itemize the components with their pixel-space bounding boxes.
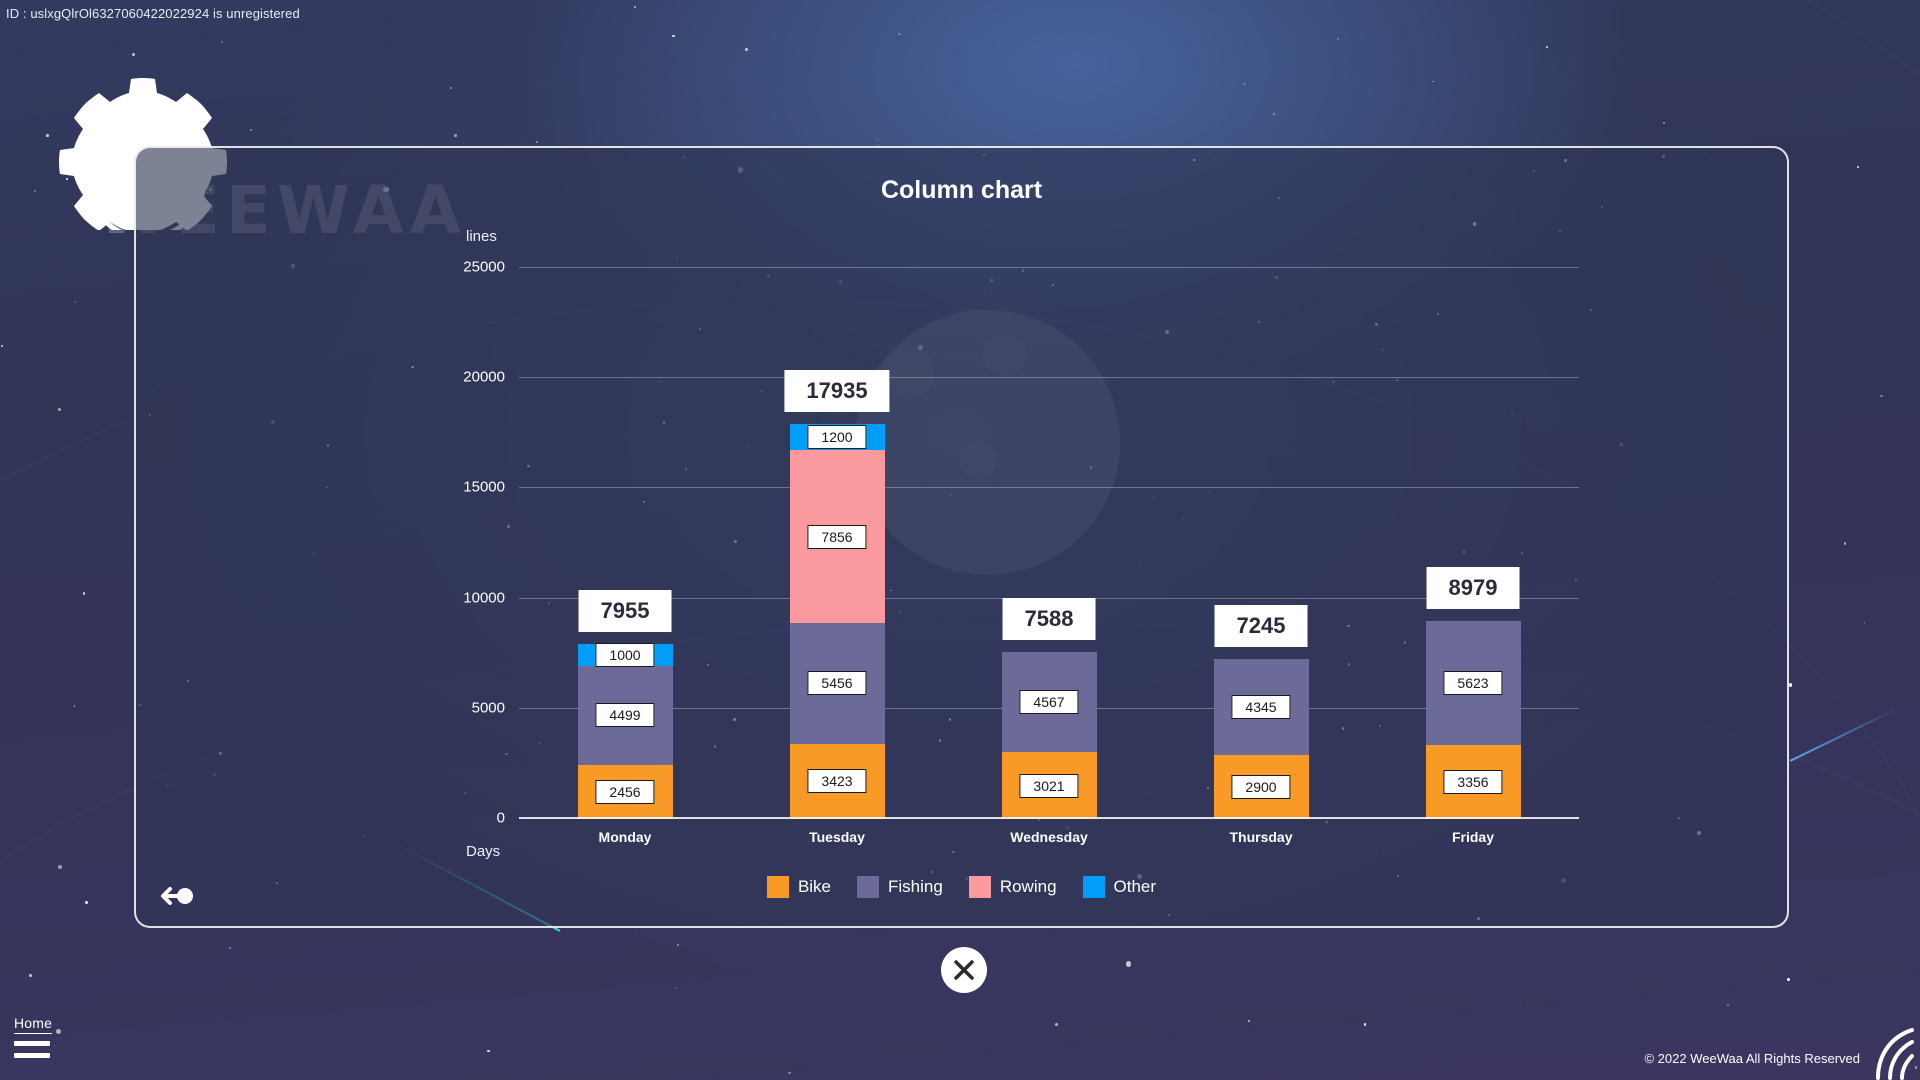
bar-segment-value: 2456 bbox=[595, 780, 654, 804]
chart-panel: Column chart lines Days 0500010000150002… bbox=[134, 146, 1789, 928]
close-icon bbox=[951, 957, 977, 983]
bar-segment-rowing[interactable]: 7856 bbox=[790, 450, 885, 623]
star bbox=[877, 139, 879, 141]
star bbox=[1055, 1023, 1058, 1026]
unregistered-id-text: ID : uslxgQlrOl6327060422022924 is unreg… bbox=[6, 6, 300, 21]
chart-title: Column chart bbox=[136, 176, 1787, 205]
bar-segment-other[interactable]: 1200 bbox=[790, 424, 885, 450]
signal-arc-icon bbox=[1872, 1028, 1918, 1080]
star bbox=[634, 6, 636, 8]
star bbox=[34, 190, 36, 192]
bar-segment-value: 7856 bbox=[807, 525, 866, 549]
star bbox=[1864, 622, 1866, 624]
star bbox=[676, 987, 678, 989]
star bbox=[487, 1050, 489, 1052]
x-axis-tick-label: Thursday bbox=[1229, 829, 1292, 845]
home-link[interactable]: Home bbox=[14, 1015, 52, 1034]
bar-segment-value: 3021 bbox=[1019, 774, 1078, 798]
star bbox=[1126, 961, 1132, 967]
bar-segment-bike[interactable]: 2456 bbox=[578, 765, 673, 819]
star bbox=[250, 129, 253, 132]
legend-item-other[interactable]: Other bbox=[1083, 876, 1157, 898]
star bbox=[677, 944, 679, 946]
legend-swatch bbox=[969, 876, 991, 898]
star bbox=[1, 345, 3, 347]
bar-segment-value: 2900 bbox=[1231, 775, 1290, 799]
star bbox=[132, 53, 135, 56]
star bbox=[1663, 122, 1665, 124]
bar-segment-bike[interactable]: 2900 bbox=[1214, 755, 1309, 819]
star bbox=[56, 1029, 61, 1034]
bar-group[interactable]: 342354567856120017935Tuesday bbox=[790, 424, 885, 819]
bar-segment-value: 5456 bbox=[807, 671, 866, 695]
x-axis-line bbox=[519, 817, 1579, 819]
bar-segment-value: 5623 bbox=[1443, 671, 1502, 695]
bar-segment-fishing[interactable]: 5456 bbox=[790, 623, 885, 743]
bar-group[interactable]: 335656238979Friday bbox=[1426, 621, 1521, 819]
bar-total-label: 7955 bbox=[579, 590, 672, 632]
gridline: 20000 bbox=[519, 377, 1579, 378]
legend-label: Bike bbox=[798, 877, 831, 897]
y-axis-title: lines bbox=[466, 228, 497, 245]
x-axis-title: Days bbox=[466, 843, 500, 860]
star bbox=[1248, 1020, 1250, 1022]
bar-segment-bike[interactable]: 3356 bbox=[1426, 745, 1521, 819]
bar-total-label: 17935 bbox=[784, 370, 889, 412]
x-axis-tick-label: Tuesday bbox=[809, 829, 865, 845]
comet-trail bbox=[1790, 707, 1899, 761]
bar-segment-value: 4499 bbox=[595, 703, 654, 727]
bar-segment-value: 3423 bbox=[807, 769, 866, 793]
legend-swatch bbox=[857, 876, 879, 898]
bar-segment-bike[interactable]: 3021 bbox=[1002, 752, 1097, 819]
bar-segment-fishing[interactable]: 4345 bbox=[1214, 659, 1309, 755]
star bbox=[1857, 166, 1859, 168]
star bbox=[1844, 542, 1847, 545]
bar-segment-fishing[interactable]: 5623 bbox=[1426, 621, 1521, 745]
menu-bar-line bbox=[14, 1053, 50, 1058]
copyright-text: © 2022 WeeWaa All Rights Reserved bbox=[1644, 1051, 1860, 1066]
close-button[interactable] bbox=[941, 947, 987, 993]
legend-label: Rowing bbox=[1000, 877, 1057, 897]
home-nav[interactable]: Home bbox=[14, 1015, 52, 1058]
star bbox=[745, 48, 748, 51]
y-axis-tick-label: 15000 bbox=[463, 479, 505, 496]
star bbox=[58, 408, 61, 411]
bar-segment-bike[interactable]: 3423 bbox=[790, 744, 885, 819]
bar-segment-value: 4567 bbox=[1019, 690, 1078, 714]
star bbox=[788, 1072, 791, 1075]
bar-group[interactable]: 302145677588Wednesday bbox=[1002, 652, 1097, 819]
legend-item-rowing[interactable]: Rowing bbox=[969, 876, 1057, 898]
bar-segment-fishing[interactable]: 4567 bbox=[1002, 652, 1097, 753]
y-axis-tick-label: 20000 bbox=[463, 369, 505, 386]
star bbox=[1880, 395, 1882, 397]
star bbox=[898, 33, 900, 35]
star bbox=[83, 592, 85, 594]
star bbox=[1727, 1004, 1730, 1007]
star bbox=[672, 35, 675, 38]
legend-swatch bbox=[1083, 876, 1105, 898]
x-axis-tick-label: Friday bbox=[1452, 829, 1494, 845]
legend-item-bike[interactable]: Bike bbox=[767, 876, 831, 898]
star bbox=[450, 87, 452, 89]
bar-group[interactable]: 2456449910007955Monday bbox=[578, 644, 673, 819]
star bbox=[54, 1045, 56, 1047]
star bbox=[1787, 978, 1790, 981]
star bbox=[221, 41, 223, 43]
star bbox=[58, 865, 62, 869]
star bbox=[75, 301, 77, 303]
menu-bar-line bbox=[14, 1041, 50, 1046]
back-arrow-icon[interactable] bbox=[158, 884, 200, 908]
star bbox=[85, 901, 88, 904]
y-axis-tick-label: 10000 bbox=[463, 589, 505, 606]
legend-label: Other bbox=[1114, 877, 1157, 897]
star bbox=[1432, 81, 1434, 83]
chart-legend: BikeFishingRowingOther bbox=[136, 876, 1787, 898]
star bbox=[1789, 683, 1793, 687]
bar-segment-fishing[interactable]: 4499 bbox=[578, 666, 673, 765]
gridline: 15000 bbox=[519, 487, 1579, 488]
bar-segment-value: 3356 bbox=[1443, 770, 1502, 794]
bar-segment-value: 4345 bbox=[1231, 695, 1290, 719]
star bbox=[1273, 113, 1275, 115]
y-axis-tick-label: 0 bbox=[497, 810, 505, 827]
legend-label: Fishing bbox=[888, 877, 943, 897]
legend-swatch bbox=[767, 876, 789, 898]
star bbox=[229, 947, 231, 949]
star bbox=[46, 134, 49, 137]
star bbox=[1337, 38, 1339, 40]
star bbox=[454, 134, 457, 137]
star bbox=[1364, 1023, 1367, 1026]
star bbox=[536, 141, 538, 143]
star bbox=[1546, 46, 1548, 48]
bar-segment-value: 1200 bbox=[807, 425, 866, 449]
star bbox=[29, 974, 32, 977]
bar-total-label: 8979 bbox=[1427, 567, 1520, 609]
star bbox=[74, 705, 76, 707]
plot-area: 0500010000150002000025000 24564499100079… bbox=[519, 268, 1579, 819]
bar-group[interactable]: 290043457245Thursday bbox=[1214, 659, 1309, 819]
app-root: ID : uslxgQlrOl6327060422022924 is unreg… bbox=[0, 0, 1920, 1080]
gridline: 25000 bbox=[519, 267, 1579, 268]
bar-total-label: 7245 bbox=[1215, 605, 1308, 647]
bar-segment-other[interactable]: 1000 bbox=[578, 644, 673, 666]
x-axis-tick-label: Monday bbox=[599, 829, 652, 845]
legend-item-fishing[interactable]: Fishing bbox=[857, 876, 943, 898]
y-axis-tick-label: 25000 bbox=[463, 259, 505, 276]
x-axis-tick-label: Wednesday bbox=[1010, 829, 1088, 845]
bar-total-label: 7588 bbox=[1003, 598, 1096, 640]
y-axis-tick-label: 5000 bbox=[472, 699, 505, 716]
bar-segment-value: 1000 bbox=[595, 643, 654, 667]
star bbox=[1243, 83, 1245, 85]
